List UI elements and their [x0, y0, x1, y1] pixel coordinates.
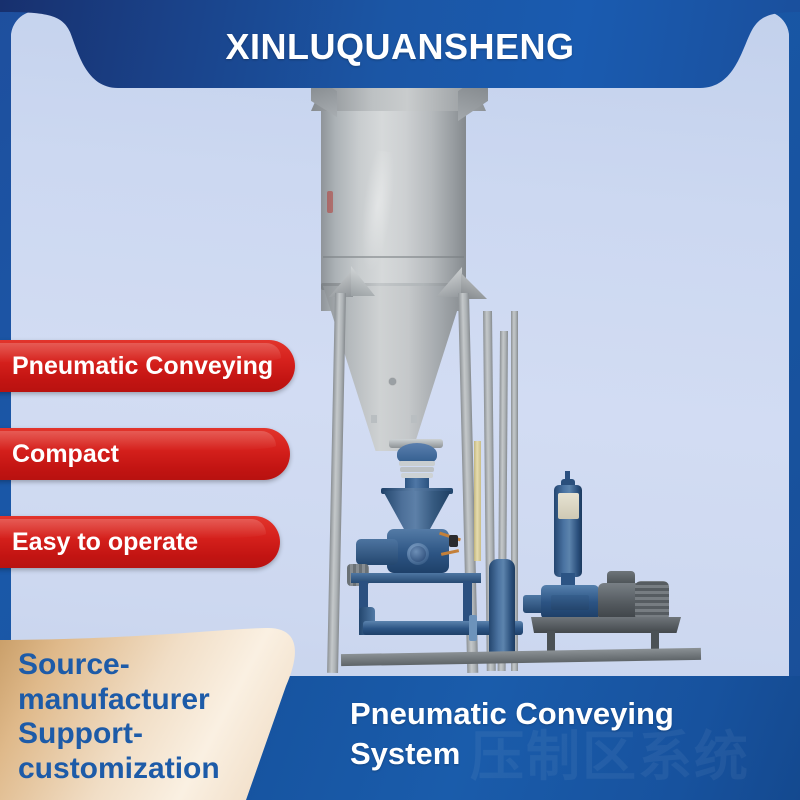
- highlight-line-3: Support-: [18, 717, 278, 752]
- ground-support-rail: [341, 648, 701, 666]
- feature-pill-compact[interactable]: Compact: [0, 428, 290, 480]
- feature-pill-label: Easy to operate: [12, 528, 198, 557]
- valve-skid-platform: [351, 573, 481, 583]
- feature-pill-label: Pneumatic Conveying: [12, 352, 273, 381]
- highlight-line-1: Source-: [18, 648, 278, 683]
- blower-nameplate: [551, 595, 589, 610]
- product-banner-poster: XINLUQUANSHENG Pneumatic Conveying Compa…: [0, 0, 800, 800]
- silo-support-leg-1: [327, 293, 346, 673]
- electric-motor-fan-cover: [635, 581, 669, 621]
- brand-name: XINLUQUANSHENG: [0, 26, 800, 68]
- highlight-text: Source- manufacturer Support- customizat…: [18, 648, 278, 786]
- highlight-line-4: customization: [18, 752, 278, 787]
- product-title: Pneumatic Conveying System: [350, 694, 780, 773]
- silo-weld-seam: [323, 256, 464, 258]
- bellows-ring-2: [400, 467, 434, 472]
- rotary-valve-gearmotor: [356, 539, 398, 565]
- silo-red-marking: [327, 191, 333, 213]
- feature-pill-easy-to-operate[interactable]: Easy to operate: [0, 516, 280, 568]
- feature-pill-label: Compact: [12, 440, 119, 469]
- air-receiver-tank: [489, 559, 515, 659]
- highlight-line-2: manufacturer: [18, 683, 278, 718]
- silencer-nameplate: [558, 493, 579, 519]
- conveying-pipe-flange: [469, 615, 477, 641]
- hopper-nozzle-left: [371, 415, 377, 423]
- valve-sensor: [449, 535, 458, 547]
- hopper-bolt: [389, 378, 396, 385]
- bellows-ring-1: [399, 461, 435, 466]
- hopper-nozzle-right: [411, 415, 417, 423]
- rotary-valve-hub-inner: [410, 546, 426, 562]
- blue-funnel: [383, 491, 451, 533]
- feature-pill-pneumatic-conveying[interactable]: Pneumatic Conveying: [0, 340, 295, 392]
- yellow-pipe: [474, 441, 481, 561]
